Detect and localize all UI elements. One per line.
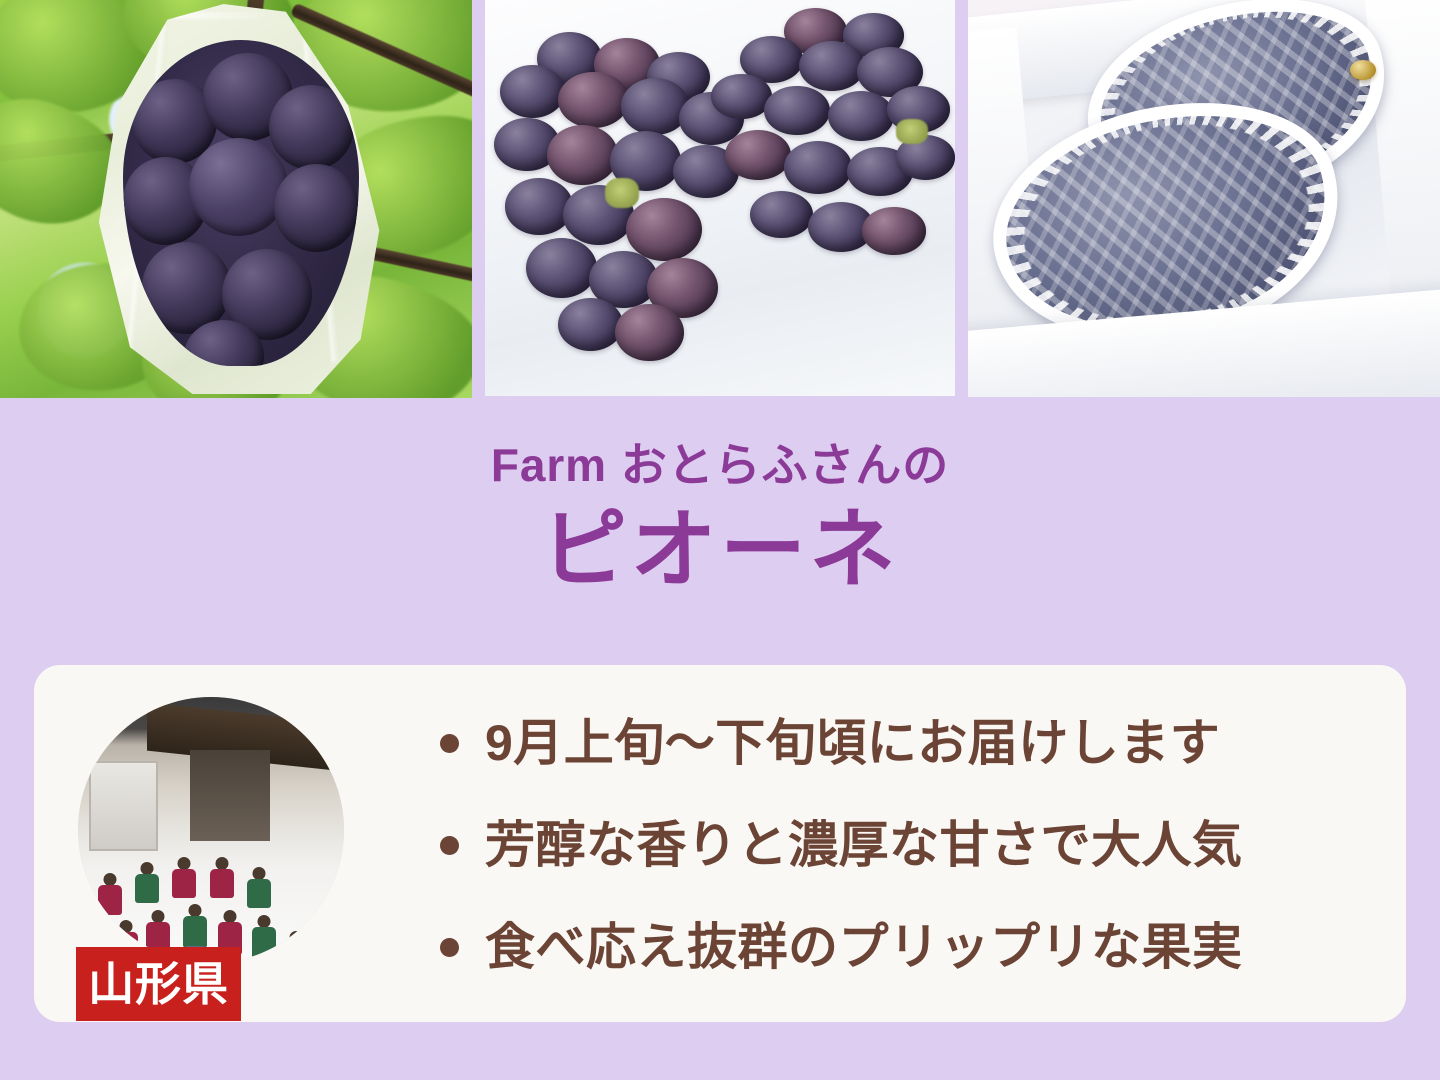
feature-item: 食べ応え抜群のプリップリな果実 — [440, 918, 1380, 977]
product-title: ピオーネ — [0, 503, 1440, 598]
farmer-team-photo — [78, 697, 344, 963]
feature-text: 9月上旬〜下旬頃にお届けします — [485, 714, 1220, 773]
grape-cluster-right — [711, 8, 955, 285]
farm-name-line: Farm おとらふさんの — [0, 440, 1440, 491]
grape-berry — [274, 164, 359, 252]
feature-text: 食べ応え抜群のプリップリな果実 — [485, 918, 1243, 977]
feature-list: 9月上旬〜下旬頃にお届けします 芳醇な香りと濃厚な甘さで大人気 食べ応え抜群のプ… — [440, 693, 1380, 998]
photo-grapes-on-vine-in-bag — [0, 0, 472, 398]
feature-text: 芳醇な香りと濃厚な甘さで大人気 — [485, 816, 1243, 875]
prefecture-label: 山形県 — [88, 961, 229, 1007]
feature-item: 9月上旬〜下旬頃にお届けします — [440, 714, 1380, 773]
bullet-dot-icon — [440, 734, 459, 753]
photo-strip — [0, 0, 1440, 398]
bullet-dot-icon — [440, 938, 459, 957]
heading-block: Farm おとらふさんの ピオーネ — [0, 398, 1440, 597]
bullet-dot-icon — [440, 836, 459, 855]
prefecture-badge: 山形県 — [76, 947, 241, 1021]
farmer-block: 山形県 — [56, 683, 376, 1005]
product-info-card: 山形県 9月上旬〜下旬頃にお届けします 芳醇な香りと濃厚な甘さで大人気 食べ応え… — [34, 665, 1406, 1022]
product-poster: Farm おとらふさんの ピオーネ — [0, 0, 1440, 1080]
grape-berry — [269, 85, 354, 170]
photo-two-grape-clusters — [485, 0, 955, 396]
feature-item: 芳醇な香りと濃厚な甘さで大人気 — [440, 816, 1380, 875]
bag-fold — [174, 12, 305, 19]
photo-gift-box-grapes — [968, 0, 1440, 397]
grape-berry — [189, 138, 288, 236]
farmer-team-people — [78, 697, 344, 963]
gold-pin-icon — [1350, 60, 1376, 80]
